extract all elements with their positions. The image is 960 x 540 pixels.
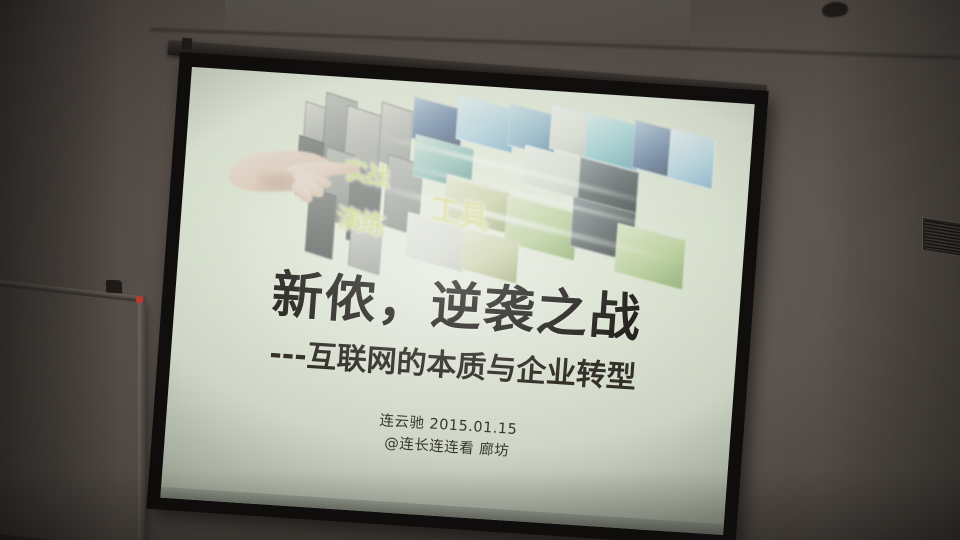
bottom-shadow — [0, 470, 960, 540]
whiteboard-red-cap — [136, 296, 143, 303]
left-shadow — [0, 0, 120, 540]
roller-bracket — [182, 38, 193, 51]
pointing-hand — [225, 136, 363, 225]
collage-tile — [667, 128, 716, 190]
right-shadow — [820, 0, 960, 540]
photo-scene: 实战 工具 演练 新侬，逆袭之战 ---互联网的本质与企业转型 — [0, 0, 960, 540]
projection-screen-frame: 实战 工具 演练 新侬，逆袭之战 ---互联网的本质与企业转型 — [146, 52, 768, 540]
slide-byline: 连云驰 2015.01.15 @连长连连看 廊坊 — [164, 396, 730, 478]
slide-collage-image: 实战 工具 演练 — [216, 87, 716, 295]
projection-screen-surface: 实战 工具 演练 新侬，逆袭之战 ---互联网的本质与企业转型 — [160, 67, 754, 535]
presentation-slide: 实战 工具 演练 新侬，逆袭之战 ---互联网的本质与企业转型 — [160, 67, 754, 535]
